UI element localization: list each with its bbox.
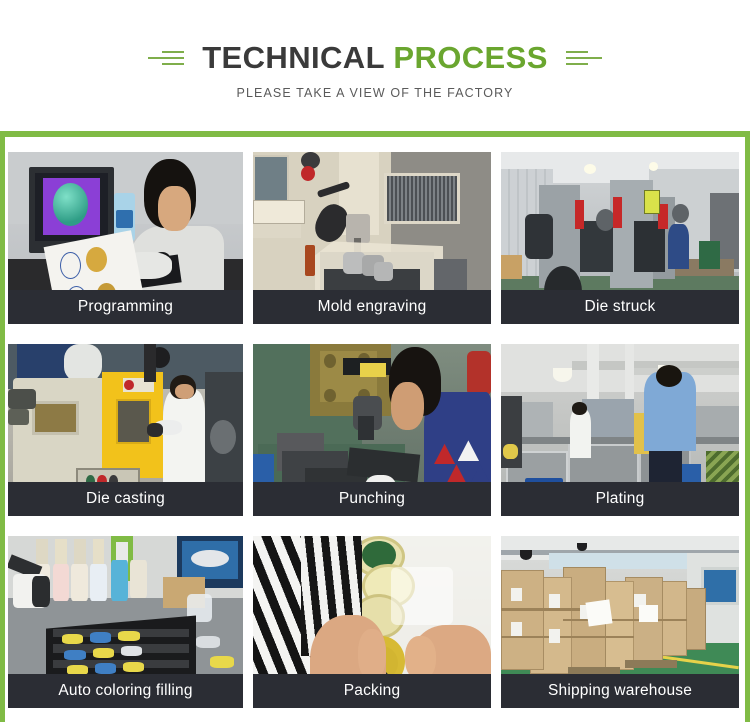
tile-caption: Punching bbox=[253, 482, 491, 516]
process-tile-programming[interactable]: Programming bbox=[8, 152, 243, 324]
tile-caption: Plating bbox=[501, 482, 739, 516]
process-tile-die-casting[interactable]: Die casting bbox=[8, 344, 243, 516]
tile-caption: Die casting bbox=[8, 482, 243, 516]
process-tile-mold-engraving[interactable]: Mold engraving bbox=[253, 152, 491, 324]
page-title: TECHNICAL PROCESS bbox=[188, 42, 562, 73]
process-tile-plating[interactable]: Plating bbox=[501, 344, 739, 516]
tile-caption: Die struck bbox=[501, 290, 739, 324]
title-decoration-right-icon bbox=[562, 45, 608, 71]
title-row: TECHNICAL PROCESS bbox=[0, 42, 750, 73]
process-gallery-grid: Programming Mold engraving bbox=[8, 152, 741, 708]
tile-caption: Programming bbox=[8, 290, 243, 324]
process-tile-packing[interactable]: Packing bbox=[253, 536, 491, 708]
page-header: TECHNICAL PROCESS PLEASE TAKE A VIEW OF … bbox=[0, 0, 750, 100]
process-tile-auto-coloring-filling[interactable]: Auto coloring filling bbox=[8, 536, 243, 708]
tile-caption: Packing bbox=[253, 674, 491, 708]
tile-caption: Mold engraving bbox=[253, 290, 491, 324]
tile-caption: Auto coloring filling bbox=[8, 674, 243, 708]
page-title-part-1: TECHNICAL bbox=[202, 40, 384, 75]
title-decoration-left-icon bbox=[142, 45, 188, 71]
page-title-part-2: PROCESS bbox=[393, 40, 547, 75]
process-tile-punching[interactable]: Punching bbox=[253, 344, 491, 516]
page-subtitle: PLEASE TAKE A VIEW OF THE FACTORY bbox=[0, 86, 750, 100]
tile-caption: Shipping warehouse bbox=[501, 674, 739, 708]
process-tile-shipping-warehouse[interactable]: Shipping warehouse bbox=[501, 536, 739, 708]
process-tile-die-struck[interactable]: Die struck bbox=[501, 152, 739, 324]
